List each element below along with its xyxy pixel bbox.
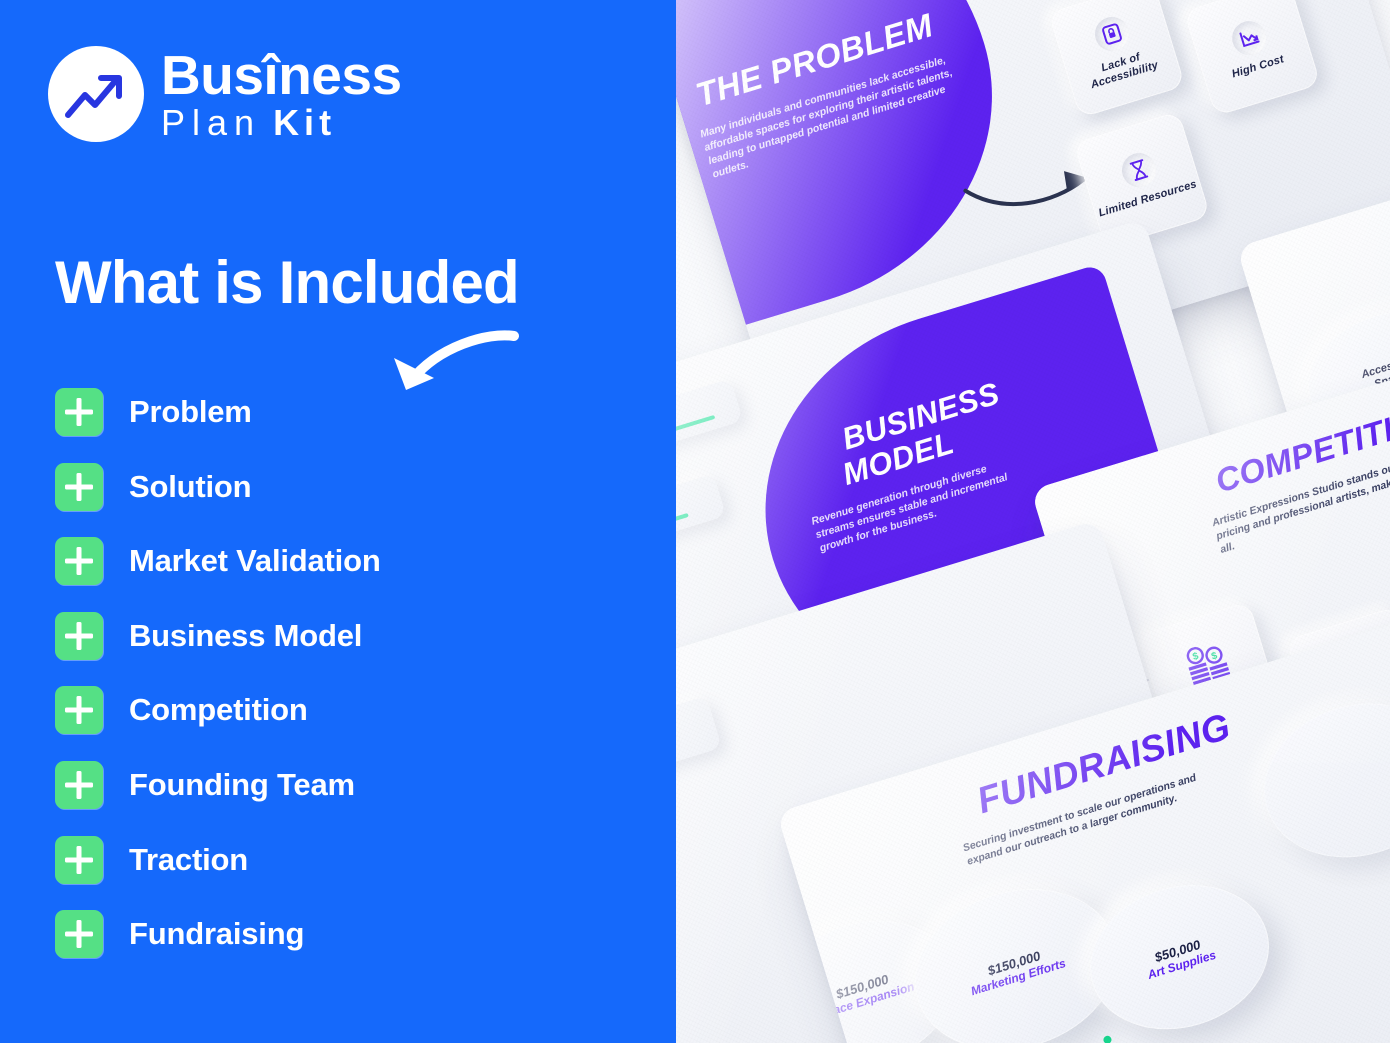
list-item[interactable]: Competition bbox=[55, 686, 615, 734]
list-item[interactable]: Solution bbox=[55, 463, 615, 511]
declining-chart-icon bbox=[1228, 17, 1270, 59]
list-item[interactable]: Traction bbox=[55, 836, 615, 884]
lock-document-icon bbox=[1091, 12, 1133, 54]
hourglass-icon bbox=[1118, 149, 1160, 191]
svg-text:$: $ bbox=[1191, 650, 1200, 662]
problem-card-accessibility[interactable]: Lack of Accessibility bbox=[1048, 0, 1185, 118]
growth-chart-circle-icon bbox=[48, 46, 144, 142]
left-info-panel: Busîness Plan Kit What is Included Probl… bbox=[0, 0, 676, 1043]
plus-icon bbox=[55, 761, 103, 809]
problem-card-high-cost[interactable]: High Cost bbox=[1183, 0, 1320, 116]
plus-icon bbox=[55, 836, 103, 884]
brand-logo[interactable]: Busîness Plan Kit bbox=[48, 46, 402, 142]
problem-card-label: High Cost bbox=[1231, 53, 1286, 81]
fundraising-decor-bubble bbox=[1245, 681, 1390, 880]
plus-icon bbox=[55, 463, 103, 511]
list-item-label: Competition bbox=[129, 692, 308, 728]
problem-card-label: Lack of Accessibility bbox=[1066, 40, 1179, 97]
list-item[interactable]: Founding Team bbox=[55, 761, 615, 809]
brand-name-line2-kit: Kit bbox=[273, 105, 336, 141]
svg-text:$: $ bbox=[1210, 650, 1219, 662]
plus-icon bbox=[55, 910, 103, 958]
plus-icon bbox=[55, 537, 103, 585]
plus-icon bbox=[55, 686, 103, 734]
brand-name-line1: Busîness bbox=[161, 49, 402, 102]
page-title: What is Included bbox=[55, 248, 519, 317]
included-items-list: Problem Solution Market Validation Busin… bbox=[55, 388, 615, 985]
list-item-label: Market Validation bbox=[129, 543, 381, 579]
list-item-label: Problem bbox=[129, 394, 252, 430]
list-item[interactable]: Problem bbox=[55, 388, 615, 436]
plus-icon bbox=[55, 388, 103, 436]
brand-name-line2-plan: Plan bbox=[161, 105, 261, 141]
list-item[interactable]: Market Validation bbox=[55, 537, 615, 585]
plus-icon bbox=[55, 612, 103, 660]
list-item-label: Business Model bbox=[129, 618, 362, 654]
list-item[interactable]: Business Model bbox=[55, 612, 615, 660]
list-item-label: Traction bbox=[129, 842, 248, 878]
list-item-label: Founding Team bbox=[129, 767, 355, 803]
list-item-label: Fundraising bbox=[129, 916, 304, 952]
list-item-label: Solution bbox=[129, 469, 251, 505]
list-item[interactable]: Fundraising bbox=[55, 910, 615, 958]
